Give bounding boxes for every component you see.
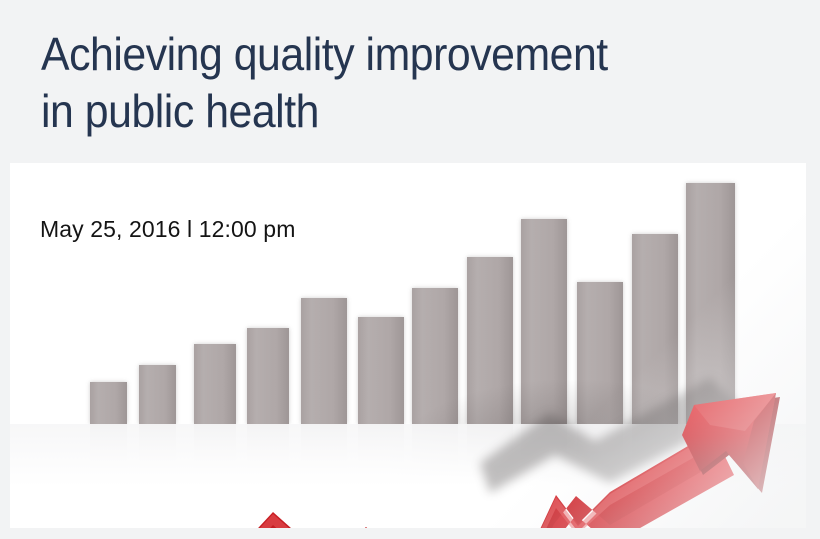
- page-title: Achieving quality improvement in public …: [41, 26, 729, 140]
- event-banner-card: May 25, 2016 l 12:00 pm: [10, 163, 806, 528]
- event-datetime: May 25, 2016 l 12:00 pm: [40, 216, 295, 243]
- page-root: Achieving quality improvement in public …: [0, 0, 820, 539]
- growth-chart: May 25, 2016 l 12:00 pm: [10, 163, 806, 528]
